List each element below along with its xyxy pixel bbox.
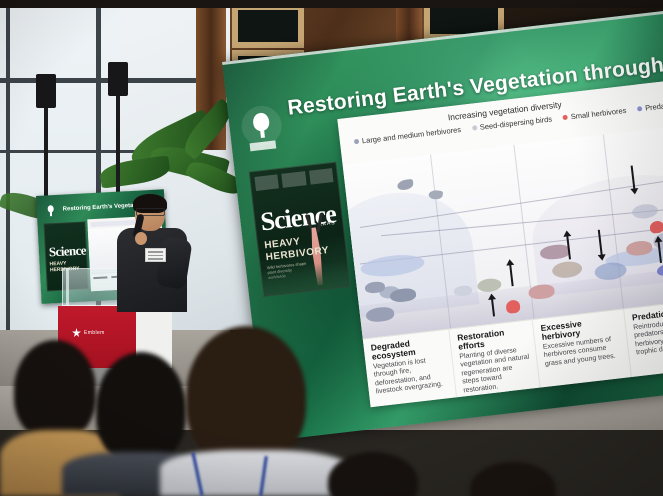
podium-logo: Emblem <box>72 328 105 337</box>
legend-label-0: Large and medium herbivores <box>361 125 461 145</box>
star-emblem-icon <box>72 328 81 337</box>
legend-dot-2 <box>563 115 569 121</box>
legend-dot-1 <box>472 125 478 131</box>
speaker-stand-pole-2 <box>116 84 120 196</box>
animal-sheep <box>453 285 472 298</box>
ceiling-strip <box>0 0 663 8</box>
audience-head-4 <box>328 452 418 496</box>
legend-item-3: Predators <box>637 100 663 114</box>
caption-degraded-ecosystem: Degraded ecosystem Vegetation is lost th… <box>363 330 456 407</box>
podium-leg-left <box>66 268 69 308</box>
audience-head-3 <box>186 326 306 466</box>
magazine-wordmark: Science <box>259 199 337 237</box>
interior-window-upper <box>232 4 304 48</box>
caption-restoration-efforts: Restoration efforts Planting of diverse … <box>448 320 539 397</box>
caption-body-0: Vegetation is lost through fire, defores… <box>373 355 449 397</box>
audience-head-2 <box>96 352 186 464</box>
bird-seed-dispersing-1 <box>397 179 414 191</box>
audience-head-5 <box>470 462 556 496</box>
animal-rabbit-2 <box>649 220 663 234</box>
animal-deer-2 <box>625 240 653 258</box>
audience-head-1 <box>14 340 96 440</box>
leaf-arrow-logo <box>239 104 284 154</box>
caption-predation: Predation Reintroduction of predators co… <box>623 299 663 377</box>
speaker-hand <box>135 232 147 245</box>
speaker-box-2 <box>108 62 128 96</box>
legend-dot-0 <box>354 139 360 145</box>
caption-excessive-herbivory: Excessive herbivory Excessive numbers of… <box>532 310 631 388</box>
legend-dot-3 <box>637 106 643 112</box>
legend-label-3: Predators <box>645 100 663 113</box>
audience-body-3 <box>160 450 350 496</box>
science-magazine-cover: Science AAAS HEAVY HERBIVORY Wild herbiv… <box>249 162 351 297</box>
animal-cattle <box>389 287 416 304</box>
monitor-leaf-logo <box>43 204 57 219</box>
legend-item-2: Small herbivores <box>562 106 626 122</box>
legend-label-2: Small herbivores <box>570 106 627 121</box>
arrow-up-1 <box>509 264 513 286</box>
infographic-panel: Increasing vegetation diversity Large an… <box>337 79 663 408</box>
caption-body-1: Planting of diverse vegetation and natur… <box>459 346 533 396</box>
animal-deer-1 <box>528 283 556 301</box>
name-badge <box>145 248 166 262</box>
podium-logo-text: Emblem <box>84 330 105 336</box>
speaker-arm <box>155 236 192 290</box>
magazine-teasers <box>254 168 333 191</box>
presentation-photo-scene: Restoring Earth's Vegetation through Tro… <box>0 0 663 496</box>
legend-item-0: Large and medium herbivores <box>354 125 462 146</box>
speaker <box>113 196 195 312</box>
monitor-magazine-wordmark: Science <box>49 242 87 260</box>
window-mullion-vertical-2 <box>6 0 10 330</box>
animal-goat <box>364 281 385 295</box>
caption-body-3: Reintroduction of predators controls her… <box>633 316 663 358</box>
speaker-box <box>36 74 56 108</box>
animal-cattle-2 <box>365 306 395 324</box>
caption-heading-3: Predation <box>632 305 663 323</box>
